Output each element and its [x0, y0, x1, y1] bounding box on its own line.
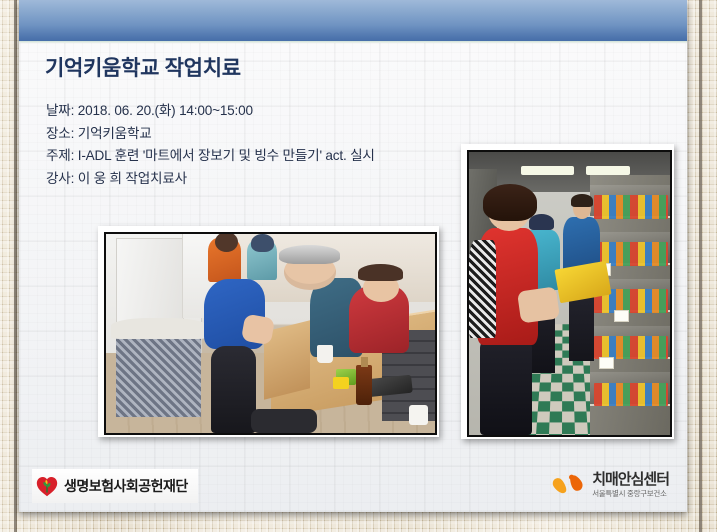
logo-left-label: 생명보험사회공헌재단 [64, 476, 188, 496]
photo-left [98, 226, 439, 437]
logo-life-insurance-foundation: 생명보험사회공헌재단 [32, 469, 198, 503]
page-title: 기억키움학교 작업치료 [45, 52, 241, 82]
meta-block: 날짜: 2018. 06. 20.(화) 14:00~15:00 장소: 기억키… [46, 100, 375, 190]
photo-left-scene [106, 234, 435, 433]
photo-left-inner [104, 232, 437, 435]
logo-right-sublabel: 서울특별시 중랑구보건소 [592, 490, 669, 498]
photo-right-scene [469, 152, 670, 435]
meta-line-date: 날짜: 2018. 06. 20.(화) 14:00~15:00 [46, 100, 375, 123]
wood-frame-left-line [14, 0, 17, 532]
wood-frame-right-line [699, 0, 702, 532]
meta-line-place: 장소: 기억키움학교 [46, 123, 375, 146]
logo-right-label: 치매안심센터 [592, 472, 669, 487]
photo-right-inner [467, 150, 672, 437]
header-band [19, 0, 687, 43]
slide-panel: 기억키움학교 작업치료 날짜: 2018. 06. 20.(화) 14:00~1… [19, 0, 687, 512]
heart-sprout-icon [36, 476, 58, 497]
meta-line-topic: 주제: I-ADL 훈련 '마트에서 장보기 및 빙수 만들기' act. 실시 [46, 145, 375, 168]
slide-root: 기억키움학교 작업치료 날짜: 2018. 06. 20.(화) 14:00~1… [0, 0, 717, 532]
photo-right [461, 144, 674, 439]
meta-line-instructor: 강사: 이 웅 희 작업치료사 [46, 168, 375, 191]
infinity-ribbon-icon [551, 473, 585, 497]
logo-dementia-care-center: 치매안심센터 서울특별시 중랑구보건소 [547, 468, 673, 502]
